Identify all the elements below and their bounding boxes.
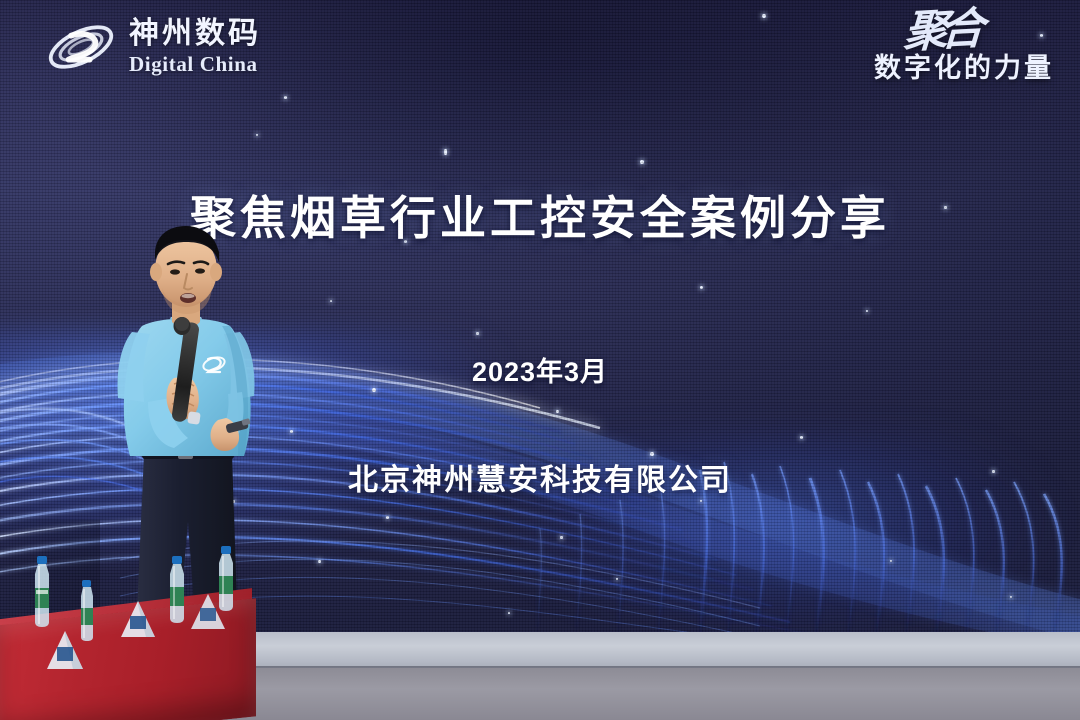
presenter-head [150,226,222,314]
water-bottle [27,556,57,628]
name-card [188,590,228,630]
name-card [118,596,158,638]
digital-china-swirl-logo [42,18,120,76]
conference-stage-photo: 神州数码 Digital China 聚合 数字化的力量 聚焦烟草行业工控安全案… [0,0,1080,720]
water-bottle [163,556,191,624]
event-calligraphy: 聚合 [873,11,977,52]
brand-name-cn: 神州数码 [129,19,261,49]
name-card [43,625,87,670]
brand-name-en: Digital China [129,54,261,75]
event-mark: 聚合 数字化的力量 [874,14,1054,85]
brand-logo: 神州数码 Digital China [42,18,261,76]
